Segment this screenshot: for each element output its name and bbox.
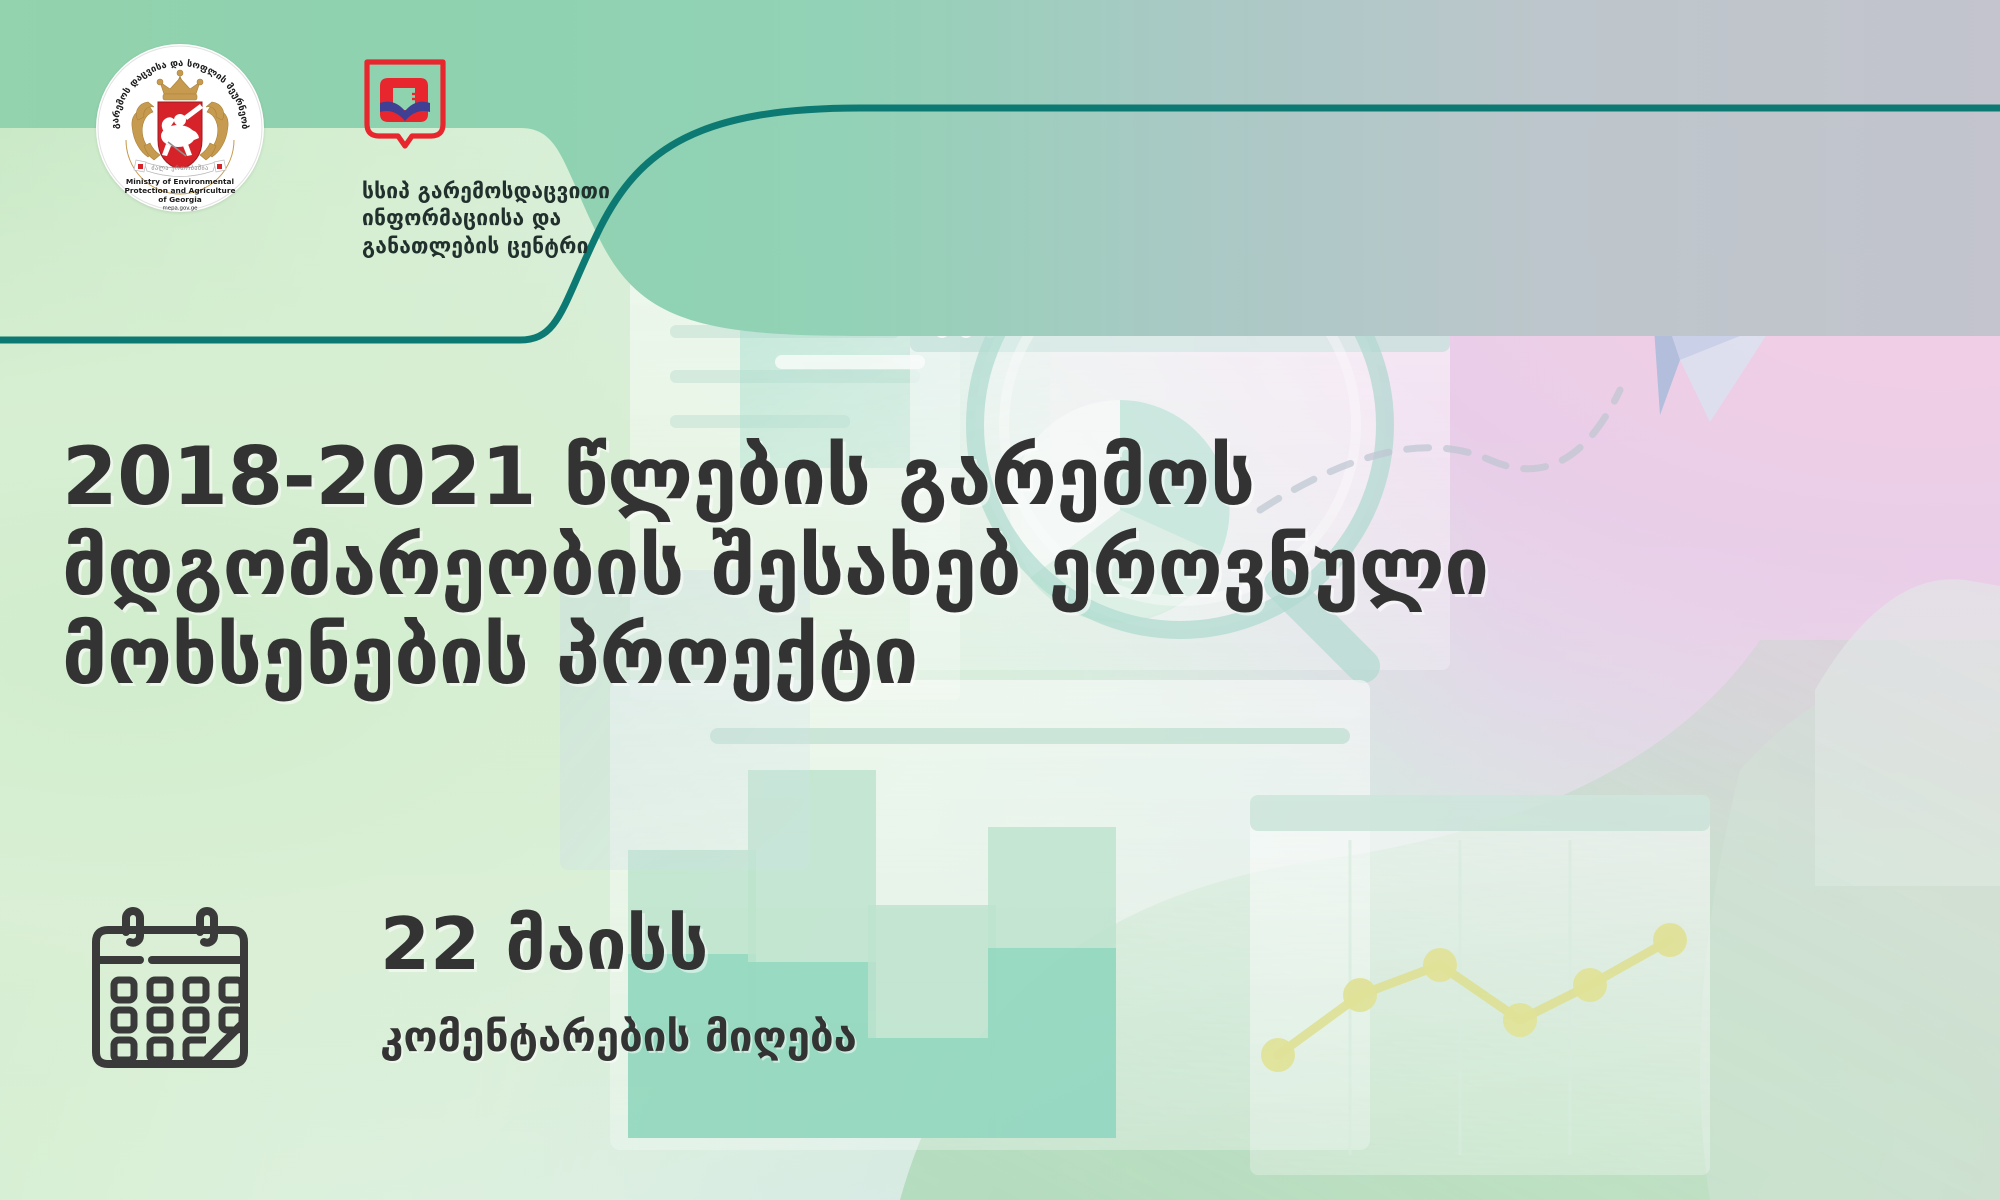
seal-line-2: Protection and Agriculture [125,186,236,195]
seal-url: mepa.gov.ge [163,206,199,212]
deadline-block: 22 მაისს კომენტარების მიღება [62,880,962,1110]
eiec-text-line-2: ინფორმაციისა და [362,205,692,232]
eiec-shield-book-logo [362,58,448,154]
eiec-text-line-1: სსიპ გარემოსდაცვითი [362,178,692,205]
ministry-seal-logo: საქართველოს გარემოს დაცვისა და სოფლის მე… [96,44,264,212]
deadline-caption: კომენტარების მიღება [380,1012,857,1061]
headline-line-3: მოხსენების პროექტი [62,611,1752,701]
headline-line-2: მდგომარეობის შესახებ ეროვნული [62,522,1752,612]
eiec-text-line-3: განათლების ცენტრი [362,233,692,260]
eiec-logo-text: სსიპ გარემოსდაცვითი ინფორმაციისა და განა… [362,178,692,260]
deadline-date: 22 მაისს [380,902,708,986]
seal-line-1: Ministry of Environmental [126,177,234,186]
headline-line-1: 2018-2021 წლების გარემოს [62,432,1752,522]
svg-text:ძალა ერთობაშია: ძალა ერთობაშია [151,165,208,172]
banner-canvas: საქართველოს გარემოს დაცვისა და სოფლის მე… [0,0,2000,1200]
calendar-icon [70,892,270,1082]
seal-line-3: of Georgia [158,195,201,204]
header-band [0,0,2000,352]
page-title: 2018-2021 წლების გარემოს მდგომარეობის შე… [62,432,1752,701]
